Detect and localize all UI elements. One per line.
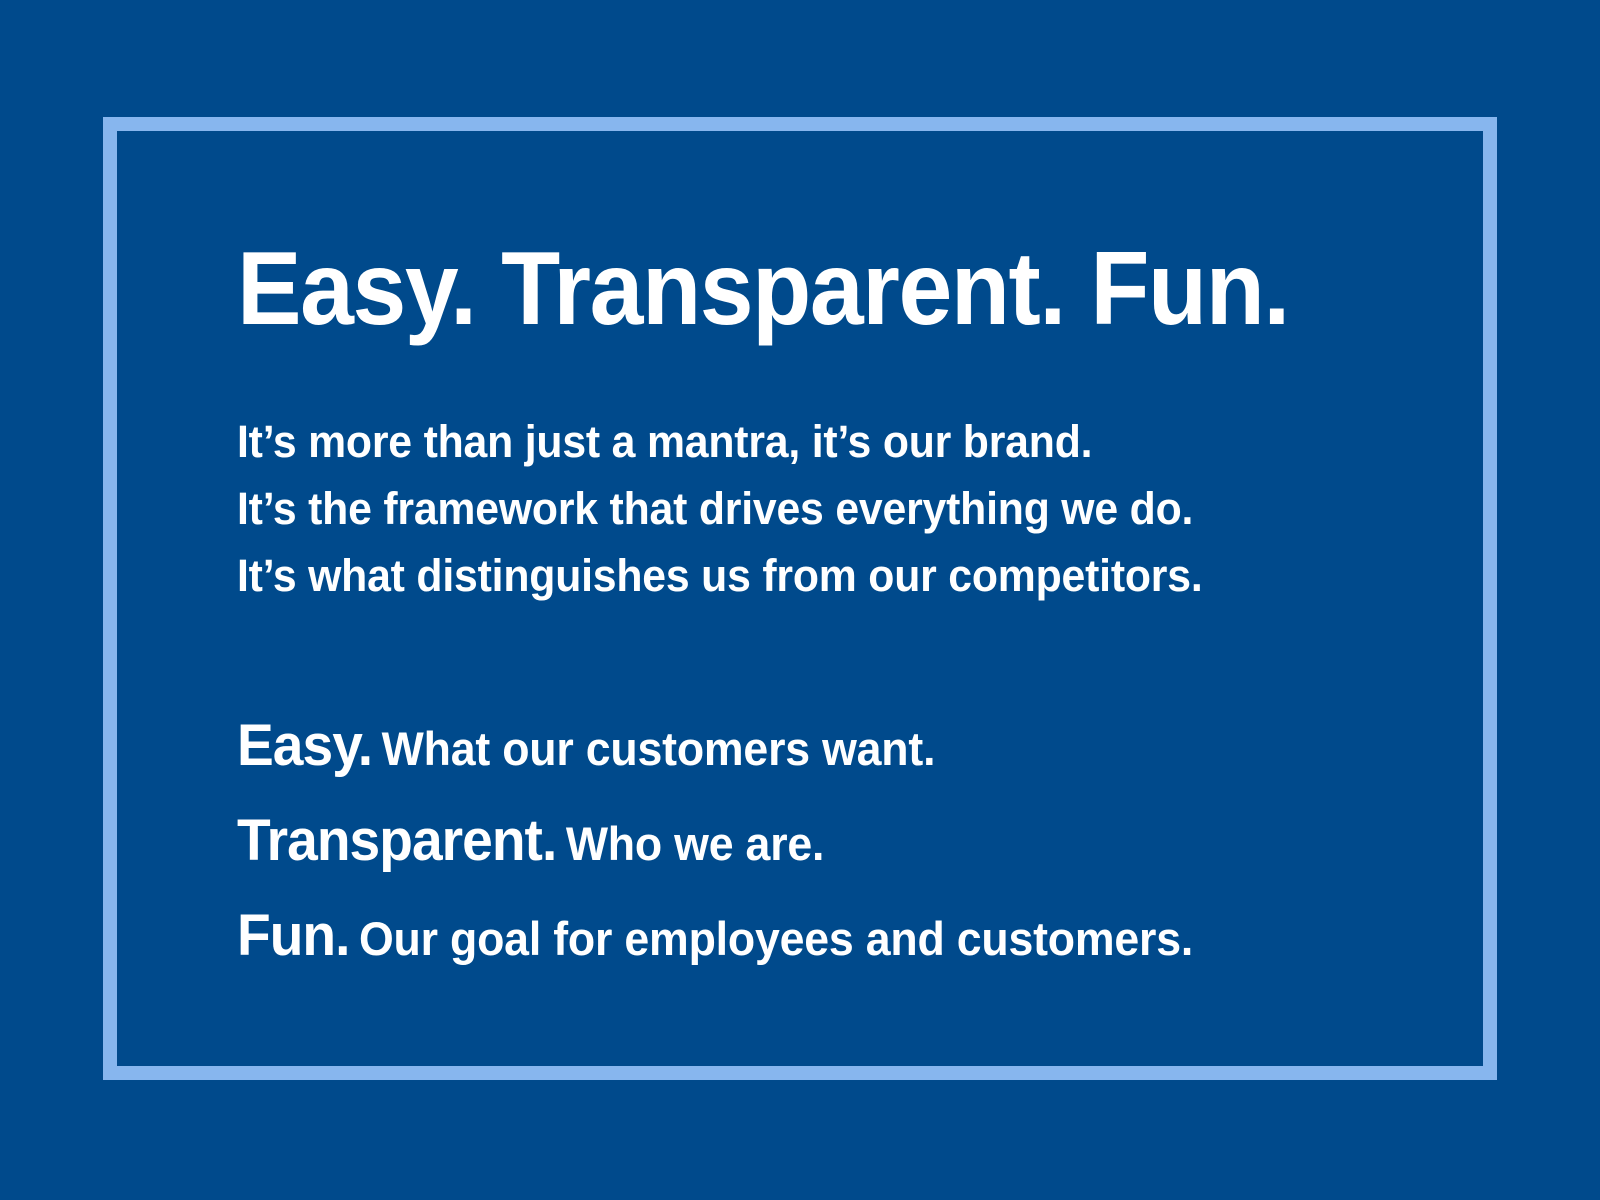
intro-line: It’s the framework that drives everythin…: [237, 475, 1320, 542]
definition-description: Our goal for employees and customers.: [359, 912, 1193, 965]
definition-term: Fun.: [237, 903, 349, 968]
intro-line: It’s what distinguishes us from our comp…: [237, 542, 1320, 609]
definition-description: Who we are.: [566, 817, 824, 870]
definition-term: Easy.: [237, 713, 372, 778]
definition-term: Transparent.: [237, 808, 556, 873]
definition-description: What our customers want.: [382, 722, 936, 775]
definition-item: Easy.What our customers want.: [237, 706, 1320, 801]
definition-item: Fun.Our goal for employees and customers…: [237, 896, 1320, 991]
slide-canvas: Easy. Transparent. Fun. It’s more than j…: [0, 0, 1600, 1200]
definition-item: Transparent.Who we are.: [237, 801, 1320, 896]
page-title: Easy. Transparent. Fun.: [237, 236, 1297, 342]
intro-line: It’s more than just a mantra, it’s our b…: [237, 408, 1320, 475]
intro-paragraph: It’s more than just a mantra, it’s our b…: [237, 408, 1377, 609]
slide-content: Easy. Transparent. Fun. It’s more than j…: [237, 236, 1377, 991]
definitions-list: Easy.What our customers want. Transparen…: [237, 706, 1377, 991]
